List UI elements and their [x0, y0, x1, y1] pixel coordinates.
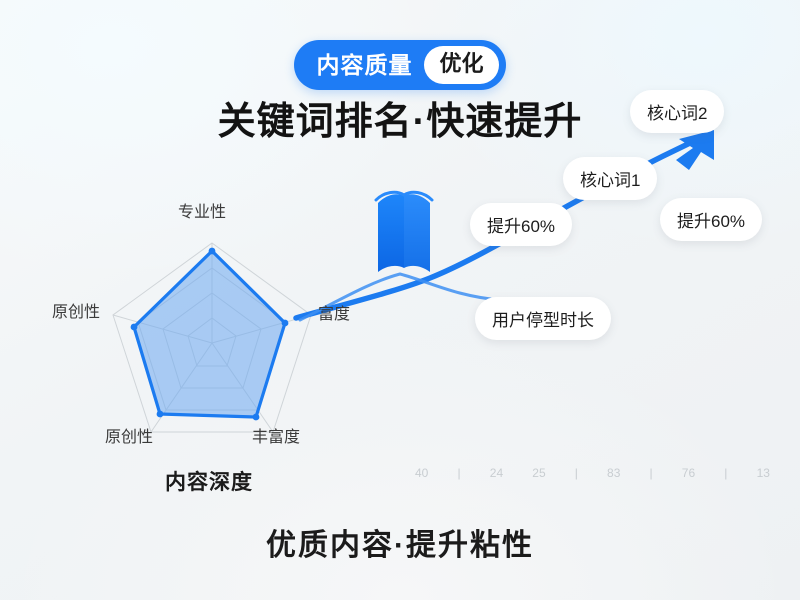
radar-data-polygon — [131, 248, 289, 421]
footer-headline: 优质内容·提升粘性 — [0, 520, 800, 564]
pill-keyword-2[interactable]: 核心词2 — [630, 90, 724, 133]
open-book-icon — [376, 192, 432, 272]
radar-label-left: 原创性 — [52, 298, 100, 322]
axis-number: 13 — [757, 466, 770, 480]
axis-number: 25 — [532, 466, 545, 480]
axis-number: 40 — [415, 466, 428, 480]
radar-label-bottom-left: 原创性 — [105, 423, 153, 447]
radar-grid — [113, 243, 311, 432]
pill-dwell-time[interactable]: 用户停型时长 — [475, 297, 611, 340]
content-quality-badge[interactable]: 内容质量 优化 — [294, 40, 505, 90]
pill-uplift-left[interactable]: 提升60% — [470, 203, 572, 246]
axis-number: | — [650, 466, 653, 480]
badge-pill-label: 优化 — [424, 46, 498, 84]
axis-number: | — [724, 466, 727, 480]
pill-keyword-1[interactable]: 核心词1 — [563, 157, 657, 200]
axis-number: 83 — [607, 466, 620, 480]
axis-number: | — [575, 466, 578, 480]
axis-number: 24 — [490, 466, 503, 480]
faint-axis-numbers: 40|2425|83|76|13 — [415, 466, 770, 480]
badge-container: 内容质量 优化 — [0, 40, 800, 90]
axis-number: 76 — [682, 466, 695, 480]
pill-uplift-right[interactable]: 提升60% — [660, 198, 762, 241]
radar-label-right: 富度 — [318, 300, 350, 324]
radar-label-bottom-right: 丰富度 — [252, 423, 300, 447]
radar-label-top: 专业性 — [178, 198, 226, 222]
content-depth-label: 内容深度 — [165, 466, 253, 496]
axis-number: | — [458, 466, 461, 480]
badge-main-label: 内容质量 — [316, 54, 424, 77]
radar-spokes — [113, 243, 311, 432]
